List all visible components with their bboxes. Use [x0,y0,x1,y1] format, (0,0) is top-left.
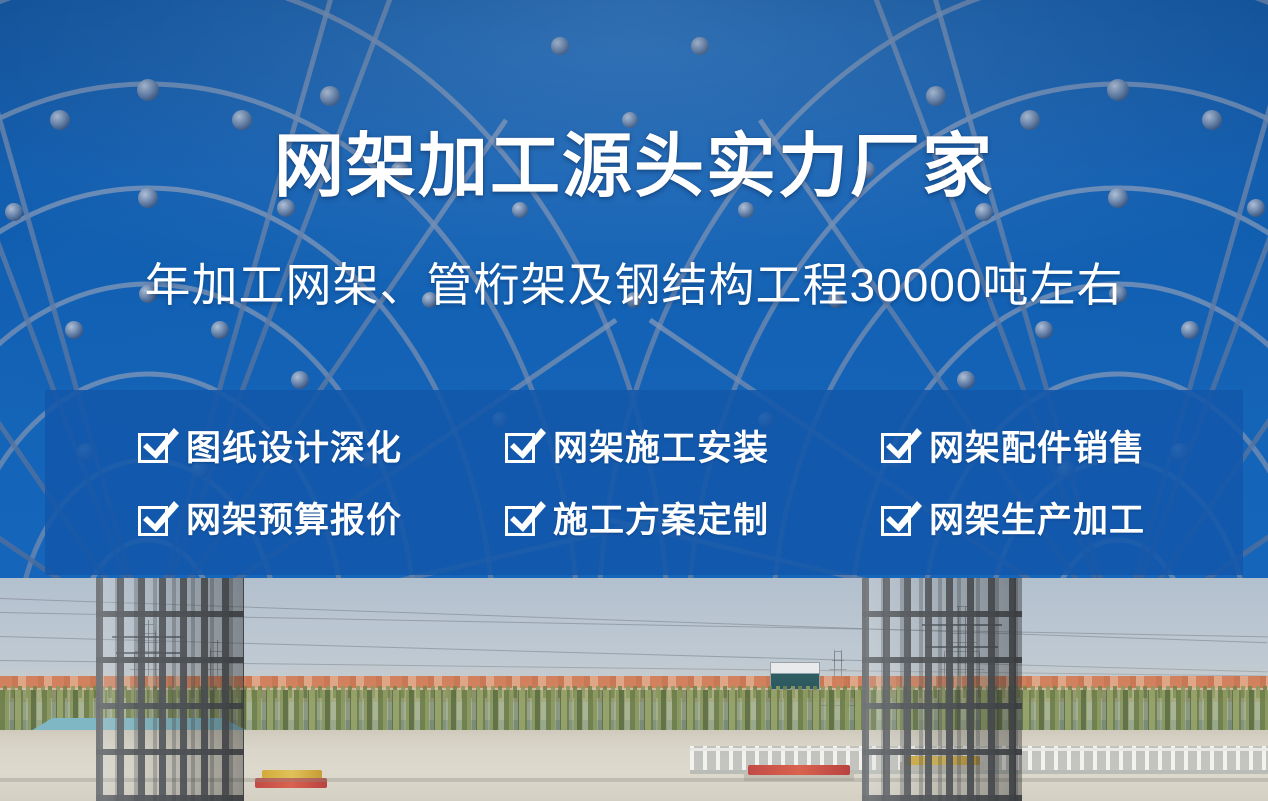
feature-item-budget-quote[interactable]: 网架预算报价 [138,503,505,538]
feature-label: 网架生产加工 [929,503,1145,538]
steel-lattice-tower-right [862,556,1022,801]
feature-item-installation[interactable]: 网架施工安装 [505,431,881,466]
tower-shading [862,556,1022,801]
checkbox-checked-icon [881,433,911,463]
tower-shading [96,556,244,801]
steel-lattice-tower-left [96,556,244,801]
feature-item-design[interactable]: 图纸设计深化 [138,431,505,466]
checkbox-checked-icon [881,506,911,536]
checkbox-checked-icon [505,433,535,463]
promo-banner: 网架加工源头实力厂家 年加工网架、管桁架及钢结构工程30000吨左右 图纸设计深… [0,0,1268,801]
feature-item-production[interactable]: 网架生产加工 [881,503,1243,538]
feature-label: 图纸设计深化 [186,431,402,466]
feature-item-plan-customization[interactable]: 施工方案定制 [505,503,881,538]
checkbox-checked-icon [138,433,168,463]
page-title: 网架加工源头实力厂家 [0,131,1268,201]
feature-label: 网架配件销售 [929,431,1145,466]
flower-bed [748,765,850,775]
checkbox-checked-icon [138,506,168,536]
feature-label: 施工方案定制 [553,503,769,538]
feature-grid: 图纸设计深化 网架施工安装 网架配件销售 [45,390,1243,575]
feature-label: 网架施工安装 [553,431,769,466]
checkbox-checked-icon [505,506,535,536]
feature-item-parts-sales[interactable]: 网架配件销售 [881,431,1243,466]
page-subtitle: 年加工网架、管桁架及钢结构工程30000吨左右 [0,262,1268,308]
feature-label: 网架预算报价 [186,503,402,538]
feature-list-panel: 图纸设计深化 网架施工安装 网架配件销售 [45,390,1243,575]
